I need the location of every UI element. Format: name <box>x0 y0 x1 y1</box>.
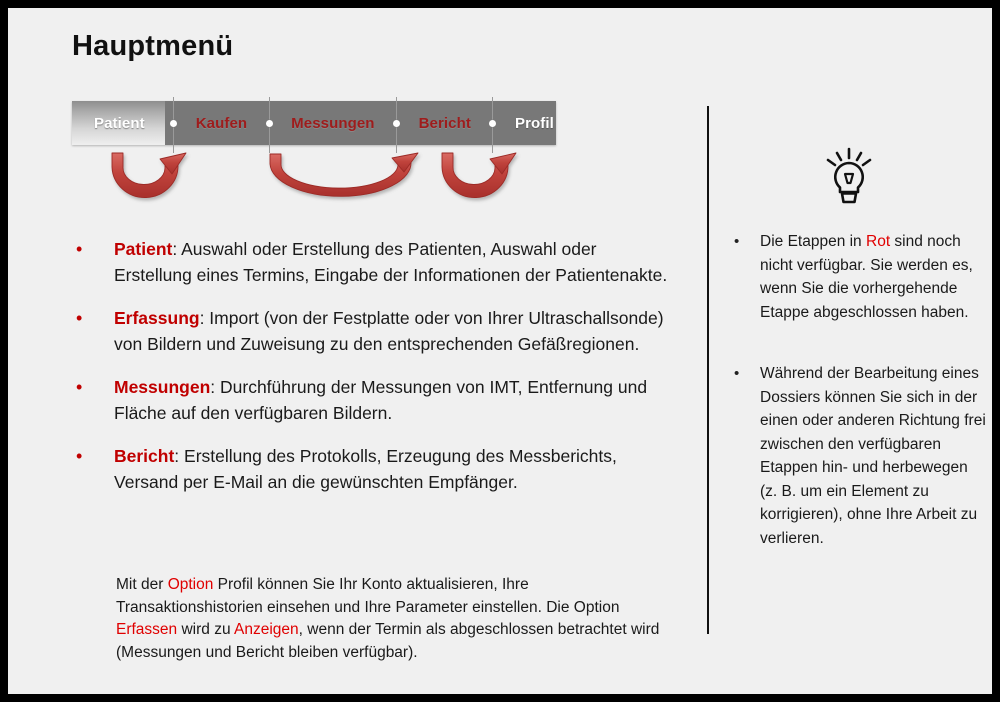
bullet-marker: • <box>70 236 114 262</box>
dot-separator-icon <box>388 101 406 145</box>
nav-item-patient-label: Patient <box>94 115 145 132</box>
nav-item-kaufen-label: Kaufen <box>196 115 247 132</box>
curved-arrow-icon <box>442 153 516 198</box>
list-item: • Erfassung: Import (von der Festplatte … <box>70 305 670 357</box>
page-title: Hauptmenü <box>72 30 233 63</box>
bullet-keyword: Bericht <box>114 446 174 466</box>
bullet-marker: • <box>734 362 760 385</box>
note-part1: Während der Bearbeitung eines Dossiers k… <box>760 365 986 547</box>
bullet-text: Messungen: Durchführung der Messungen vo… <box>114 374 670 426</box>
vertical-divider <box>707 106 709 634</box>
footnote-keyword-erfassen: Erfassen <box>116 621 177 638</box>
bullet-marker: • <box>70 305 114 331</box>
footnote-part1: Mit der <box>116 576 168 593</box>
list-item: • Während der Bearbeitung eines Dossiers… <box>734 362 986 550</box>
nav-item-bericht-label: Bericht <box>419 115 471 132</box>
curved-arrow-icon <box>112 153 186 198</box>
dot-separator-icon <box>165 101 183 145</box>
tips-note-list: • Die Etappen in Rot sind noch nicht ver… <box>734 230 986 588</box>
footnote-keyword-anzeigen: Anzeigen <box>234 621 299 638</box>
bullet-body: : Erstellung des Protokolls, Erzeugung d… <box>114 446 617 492</box>
bullet-keyword: Erfassung <box>114 308 200 328</box>
feature-bullet-list: • Patient: Auswahl oder Erstellung des P… <box>70 236 670 512</box>
footnote-keyword-option: Option <box>168 576 214 593</box>
nav-item-patient[interactable]: Patient <box>72 101 165 145</box>
curved-arrow-icon <box>270 153 418 196</box>
main-menu-navbar[interactable]: Patient Kaufen Messungen Bericht Profil <box>72 101 556 145</box>
list-item: • Bericht: Erstellung des Protokolls, Er… <box>70 443 670 495</box>
note-part1: Die Etappen in <box>760 233 866 250</box>
nav-item-bericht[interactable]: Bericht <box>406 101 484 145</box>
nav-item-profil[interactable]: Profil <box>502 101 567 145</box>
bullet-text: Erfassung: Import (von der Festplatte od… <box>114 305 670 357</box>
note-keyword-rot: Rot <box>866 233 890 250</box>
arrow-group <box>72 148 572 210</box>
footnote-paragraph: Mit der Option Profil können Sie Ihr Kon… <box>116 574 661 664</box>
bullet-text: Bericht: Erstellung des Protokolls, Erze… <box>114 443 670 495</box>
bullet-marker: • <box>70 374 114 400</box>
nav-item-messungen-label: Messungen <box>291 115 374 132</box>
dot-separator-icon <box>260 101 278 145</box>
slide-canvas: Hauptmenü Patient Kaufen Messungen Beric… <box>8 8 992 694</box>
bullet-text: Patient: Auswahl oder Erstellung des Pat… <box>114 236 670 288</box>
nav-item-messungen[interactable]: Messungen <box>278 101 387 145</box>
list-item: • Die Etappen in Rot sind noch nicht ver… <box>734 230 986 324</box>
bullet-keyword: Messungen <box>114 377 210 397</box>
slide-frame: Hauptmenü Patient Kaufen Messungen Beric… <box>0 0 1000 702</box>
dot-separator-icon <box>484 101 502 145</box>
footnote-part3: wird zu <box>177 621 234 638</box>
bullet-keyword: Patient <box>114 239 172 259</box>
note-text: Die Etappen in Rot sind noch nicht verfü… <box>760 230 986 324</box>
note-text: Während der Bearbeitung eines Dossiers k… <box>760 362 986 550</box>
nav-item-profil-label: Profil <box>515 115 554 132</box>
bullet-body: : Auswahl oder Erstellung des Patienten,… <box>114 239 667 285</box>
bullet-marker: • <box>734 230 760 253</box>
list-item: • Messungen: Durchführung der Messungen … <box>70 374 670 426</box>
list-item: • Patient: Auswahl oder Erstellung des P… <box>70 236 670 288</box>
bullet-marker: • <box>70 443 114 469</box>
lightbulb-icon <box>816 146 882 212</box>
nav-item-kaufen[interactable]: Kaufen <box>183 101 260 145</box>
